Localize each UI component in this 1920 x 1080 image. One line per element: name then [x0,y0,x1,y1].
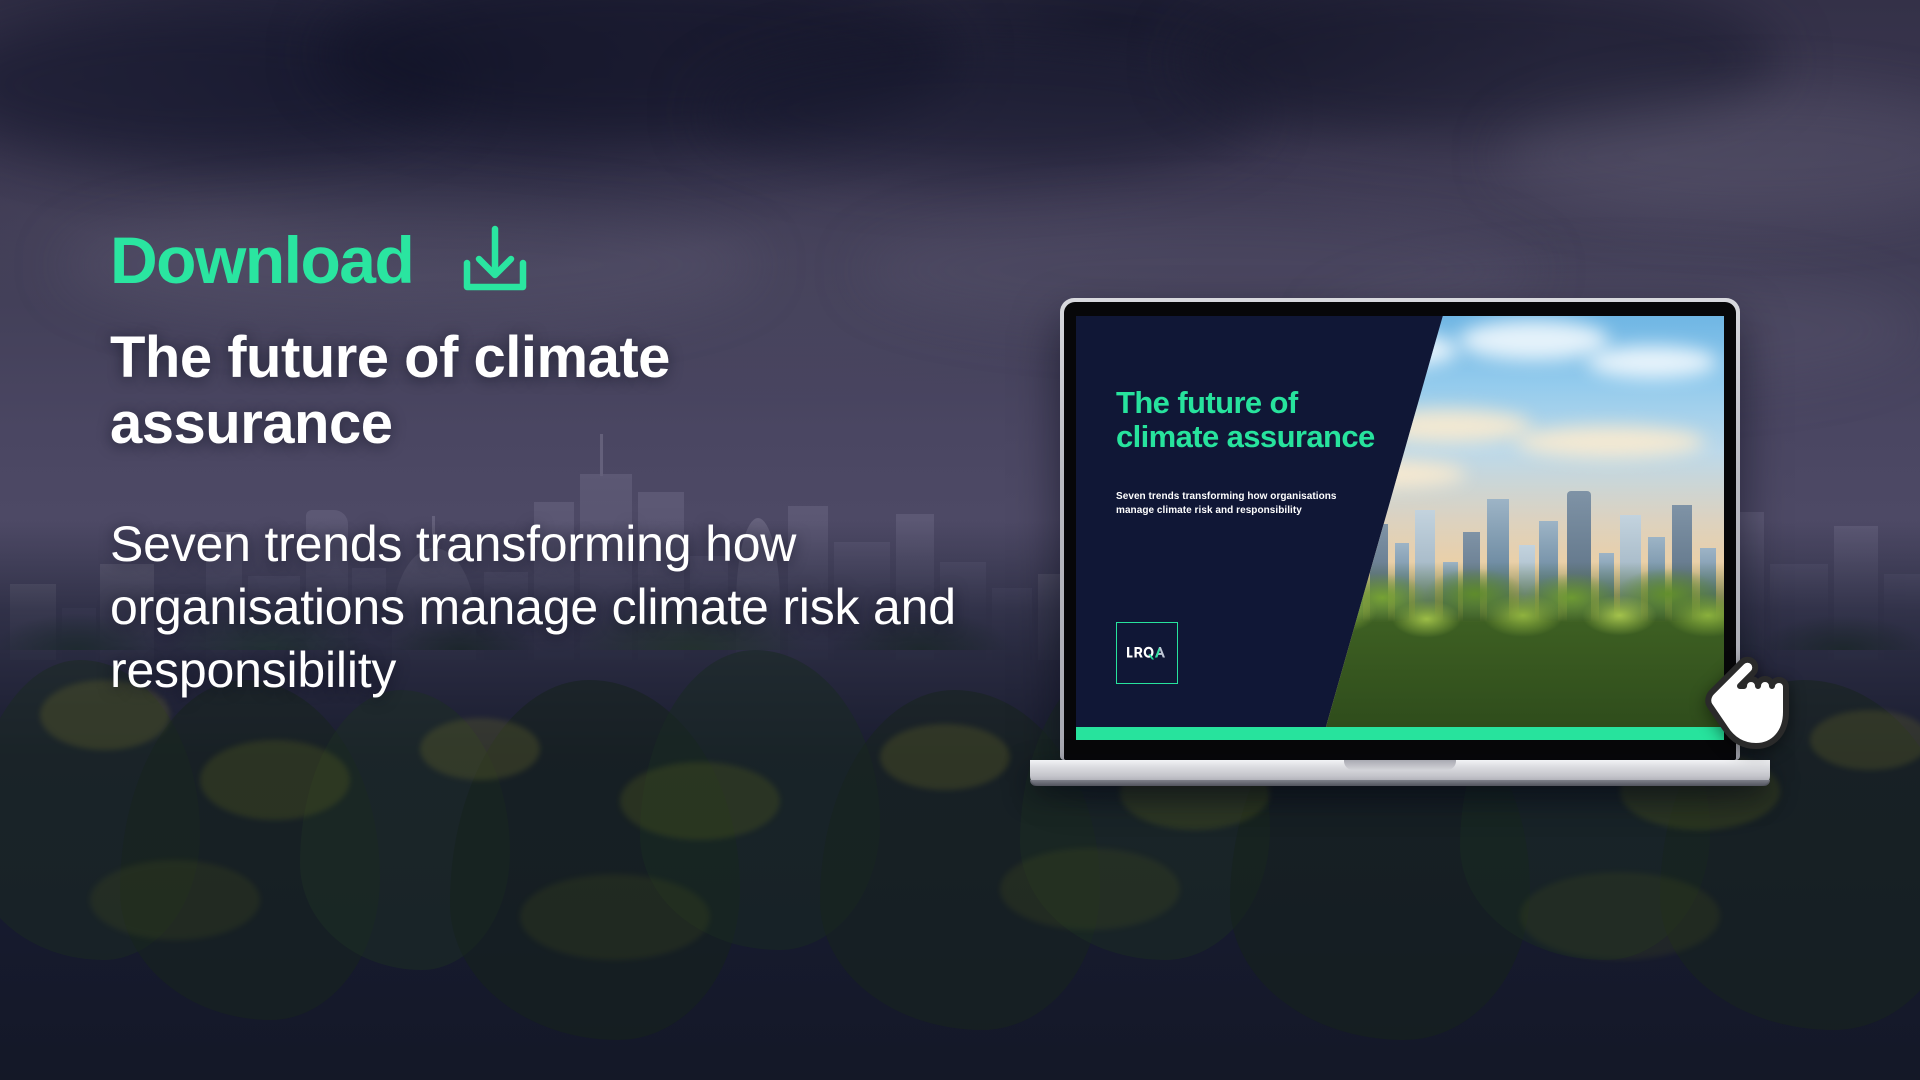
slide-subtitle-line1: Seven trends transforming how organisati… [1116,490,1366,504]
slide-photo [1322,316,1724,740]
pointing-hand-cursor[interactable] [1700,636,1818,764]
page-title: The future of climate assurance [110,325,750,457]
slide-text-block: The future of climate assurance Seven tr… [1116,386,1416,519]
laptop-base [1030,760,1770,786]
laptop-mockup: The future of climate assurance Seven tr… [1060,298,1740,786]
download-row[interactable]: Download [110,225,1010,295]
laptop-screen[interactable]: The future of climate assurance Seven tr… [1076,316,1724,740]
lrqa-logo [1116,622,1178,684]
slide-subtitle-line2: manage climate risk and responsibility [1116,504,1366,518]
lrqa-logo-icon [1126,646,1168,660]
promo-subcopy: Seven trends transforming how organisati… [110,513,960,702]
slide-title-line1: The future of [1116,386,1416,420]
promo-copy: Download The future of climate assurance… [110,225,1010,702]
slide-title-line2: climate assurance [1116,420,1416,454]
download-label: Download [110,227,413,293]
promo-banner: Download The future of climate assurance… [0,0,1920,1080]
download-arrow-tray-icon[interactable] [459,225,531,295]
laptop-bezel: The future of climate assurance Seven tr… [1064,302,1736,760]
laptop-lid: The future of climate assurance Seven tr… [1060,298,1740,760]
slide-tree-canopy [1322,562,1724,740]
slide-accent-bar [1076,727,1724,740]
